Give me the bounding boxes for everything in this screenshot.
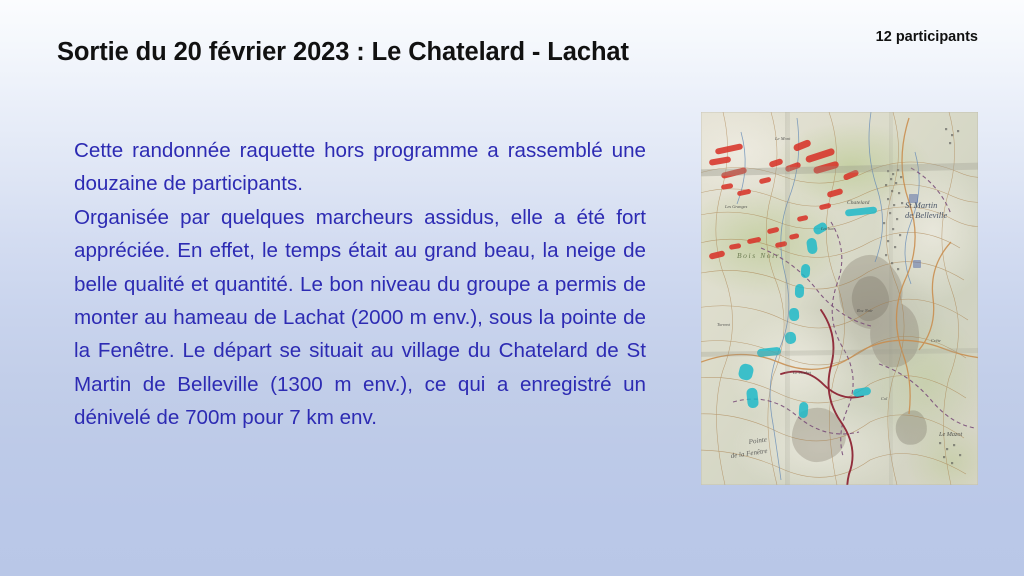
svg-text:Bois Noir: Bois Noir	[737, 251, 780, 260]
svg-text:Lachat: Lachat	[820, 226, 834, 231]
svg-text:Col: Col	[881, 396, 888, 401]
svg-text:Torrent: Torrent	[717, 322, 731, 327]
description-text-block: Cette randonnée raquette hors programme …	[74, 134, 646, 435]
svg-text:Le Cochet: Le Cochet	[792, 370, 812, 375]
svg-text:Le Mazot: Le Mazot	[938, 431, 962, 438]
participants-count-label: 12 participants	[876, 29, 978, 45]
svg-text:St Martin: St Martin	[905, 200, 937, 210]
topographic-map-illustration: St Martin de Belleville Chatelard Bois N…	[701, 112, 978, 485]
svg-text:Crête: Crête	[931, 338, 941, 343]
svg-text:Les Granges: Les Granges	[724, 204, 748, 209]
svg-text:Chatelard: Chatelard	[847, 200, 870, 206]
description-paragraph-2: Organisée par quelques marcheurs assidus…	[74, 201, 646, 435]
svg-text:Roc Noir: Roc Noir	[856, 308, 873, 313]
svg-text:de Belleville: de Belleville	[905, 210, 947, 220]
slide-canvas: Sortie du 20 février 2023 : Le Chatelard…	[0, 0, 1024, 576]
description-paragraph-1: Cette randonnée raquette hors programme …	[74, 134, 646, 201]
map-image: St Martin de Belleville Chatelard Bois N…	[701, 112, 978, 485]
page-title: Sortie du 20 février 2023 : Le Chatelard…	[57, 37, 757, 68]
